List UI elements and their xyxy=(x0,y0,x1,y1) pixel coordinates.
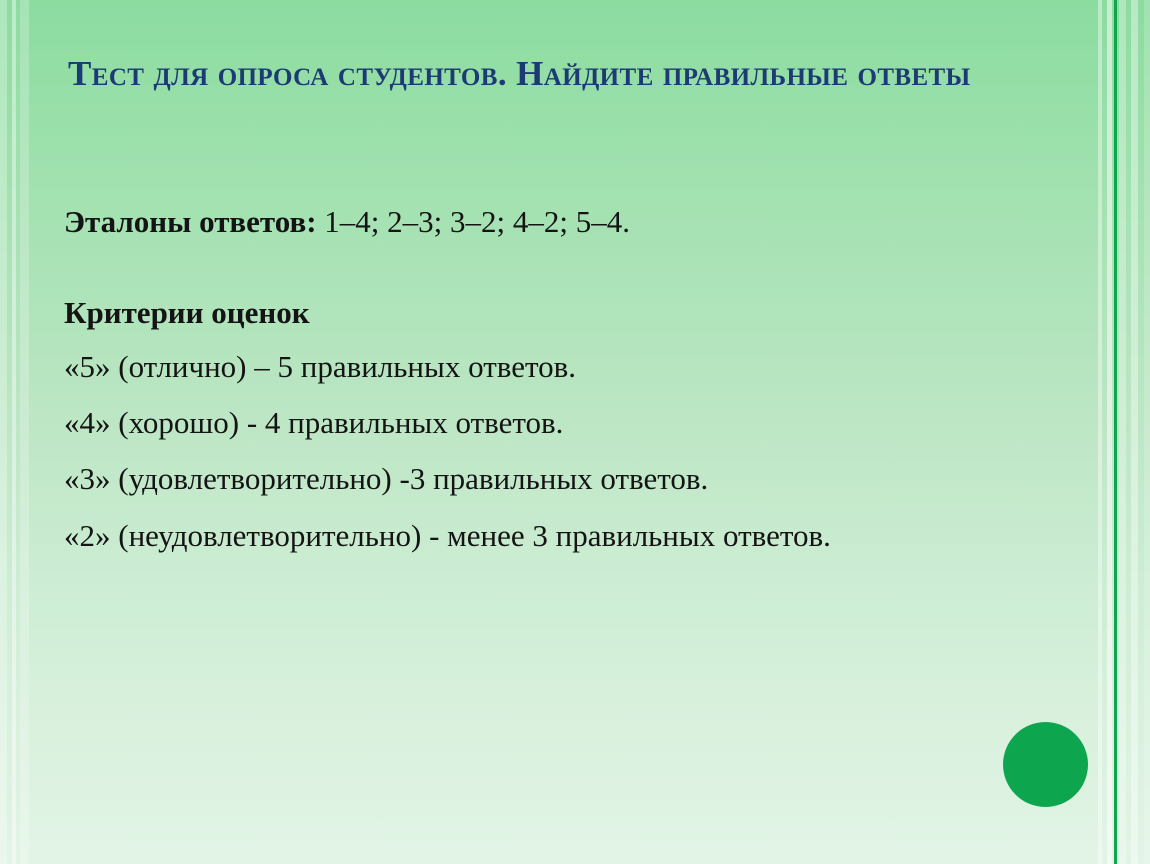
right-accent-line xyxy=(1114,0,1117,864)
answer-key-values: 1–4; 2–3; 3–2; 4–2; 5–4. xyxy=(324,204,630,239)
spacer xyxy=(64,438,934,463)
criteria-heading: Критерии оценок xyxy=(64,297,934,328)
answer-key-label: Эталоны ответов: xyxy=(64,204,317,239)
slide-title: Тест для опроса студентов. Найдите прави… xyxy=(68,54,1068,94)
spacer xyxy=(64,382,934,407)
answer-key-paragraph: Эталоны ответов: 1–4; 2–3; 3–2; 4–2; 5–4… xyxy=(64,206,934,237)
green-circle-icon xyxy=(1003,722,1088,807)
right-stripe-decoration xyxy=(1098,0,1150,864)
slide-body: Эталоны ответов: 1–4; 2–3; 3–2; 4–2; 5–4… xyxy=(64,206,934,554)
spacer xyxy=(64,328,934,351)
spacer xyxy=(64,237,934,297)
criteria-line-5: «5» (отлично) – 5 правильных ответов. xyxy=(64,351,934,382)
slide-canvas: Тест для опроса студентов. Найдите прави… xyxy=(0,0,1150,864)
criteria-line-4: «4» (хорошо) - 4 правильных ответов. xyxy=(64,407,934,438)
criteria-line-3: «3» (удовлетворительно) -3 правильных от… xyxy=(64,463,934,494)
spacer xyxy=(64,494,934,519)
left-stripe-decoration xyxy=(0,0,34,864)
criteria-line-2: «2» (неудовлетворительно) - менее 3 прав… xyxy=(64,519,934,554)
